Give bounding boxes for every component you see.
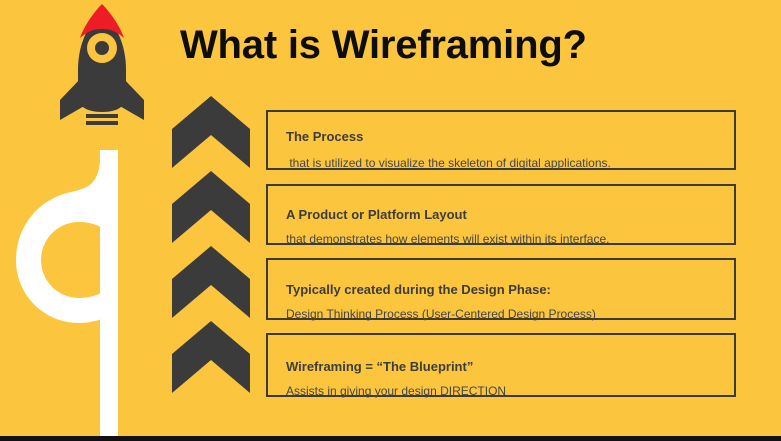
content-box: Wireframing = “The Blueprint” Assists in…: [266, 333, 736, 397]
chevron-up-icon: [172, 321, 250, 393]
content-box: A Product or Platform Layout that demons…: [266, 184, 736, 245]
content-box: The Process that is utilized to visualiz…: [266, 110, 736, 170]
chevron-up-icon: [172, 96, 250, 168]
content-box-title: The Process: [286, 128, 734, 146]
content-box-description: Design Thinking Process (User-Centered D…: [286, 306, 734, 322]
content-box-title: Wireframing = “The Blueprint”: [286, 358, 734, 376]
rocket-illustration: [0, 0, 200, 441]
rocket-trail-loop-icon: [16, 150, 118, 441]
content-box-description: that demonstrates how elements will exis…: [286, 231, 734, 247]
content-box-title: Typically created during the Design Phas…: [286, 281, 734, 299]
chevron-up-icon: [172, 171, 250, 243]
slide-canvas: What is Wireframing? The Process that is…: [0, 0, 781, 441]
content-box: Typically created during the Design Phas…: [266, 258, 736, 320]
content-box-title: A Product or Platform Layout: [286, 206, 734, 224]
content-box-description: that is utilized to visualize the skelet…: [286, 155, 734, 171]
chevron-up-icon: [172, 246, 250, 318]
rocket-icon: [60, 4, 144, 125]
bottom-divider-bar: [0, 436, 781, 441]
page-title: What is Wireframing?: [180, 24, 740, 66]
content-box-description: Assists in giving your design DIRECTION: [286, 383, 734, 399]
